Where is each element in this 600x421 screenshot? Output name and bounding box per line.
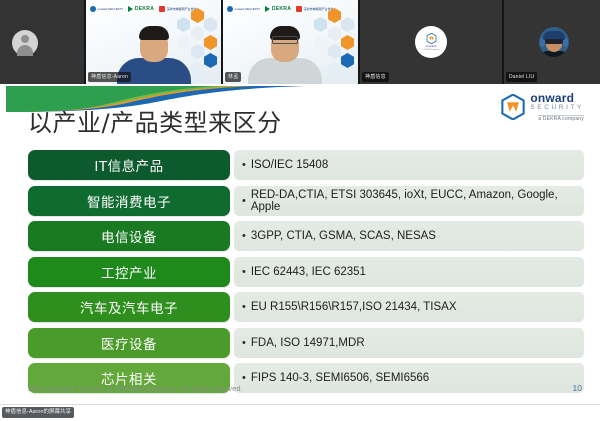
standards-text: FDA, ISO 14971,MDR — [251, 337, 365, 349]
bullet-icon: • — [242, 159, 246, 171]
participant-name-shendun: 神盾信息 — [362, 72, 389, 82]
standards-cell: • EU R155\R156\R157,ISO 21434, TISAX — [234, 292, 584, 322]
virtual-background-2: onward SECURITY DEKRA 深圳市物联网产业协会 — [223, 0, 358, 84]
video-tile-partial[interactable] — [0, 0, 86, 84]
page-number: 10 — [573, 383, 582, 393]
participant-name-daniel: Daniel LIU — [506, 72, 537, 82]
bullet-icon: • — [242, 230, 246, 242]
table-row: 汽车及汽车电子 • EU R155\R156\R157,ISO 21434, T… — [28, 292, 584, 322]
participant-figure-2 — [240, 10, 330, 84]
standards-cell: • ISO/IEC 15408 — [234, 150, 584, 180]
hex-w-icon-large — [500, 94, 526, 120]
participant-name-aaron: 神盾信息-Aaron — [88, 72, 131, 82]
video-tile-daniel-liu[interactable]: Daniel LIU — [504, 0, 600, 84]
category-cell: 医疗设备 — [28, 328, 230, 358]
onward-security-logo: onward SECURITY a DEKRA company — [500, 92, 584, 122]
standards-text: RED-DA,CTIA, ETSI 303645, ioXt, EUCC, Am… — [251, 189, 584, 213]
standards-text: ISO/IEC 15408 — [251, 159, 328, 171]
daniel-avatar-photo — [539, 27, 569, 57]
category-cell: IT信息产品 — [28, 150, 230, 180]
standards-cell: • IEC 62443, IEC 62351 — [234, 257, 584, 287]
brand-name: onward — [530, 92, 584, 104]
standards-text: 3GPP, CTIA, GSMA, SCAS, NESAS — [251, 230, 436, 242]
industry-standards-table: IT信息产品 • ISO/IEC 15408 智能消费电子 • RED-DA,C… — [28, 150, 584, 393]
standards-cell: • FDA, ISO 14971,MDR — [234, 328, 584, 358]
glasses-icon — [272, 36, 298, 44]
category-cell: 汽车及汽车电子 — [28, 292, 230, 322]
video-tile-strip: onward SECURITY DEKRA 深圳市物联网产业协会 — [0, 0, 600, 84]
standards-text: EU R155\R156\R157,ISO 21434, TISAX — [251, 301, 457, 313]
zoom-meeting-window: onward SECURITY DEKRA 深圳市物联网产业协会 — [0, 0, 600, 421]
table-row: IT信息产品 • ISO/IEC 15408 — [28, 150, 584, 180]
video-tile-participant-2[interactable]: onward SECURITY DEKRA 深圳市物联网产业协会 — [223, 0, 360, 84]
participant-name-2: 林孟 — [225, 72, 241, 82]
standards-text: IEC 62443, IEC 62351 — [251, 266, 366, 278]
category-cell: 电信设备 — [28, 221, 230, 251]
default-avatar-icon — [12, 30, 38, 56]
avatar-brand-sub: a DEKRA company — [422, 49, 439, 51]
hex-w-icon — [426, 33, 437, 44]
standards-cell: • RED-DA,CTIA, ETSI 303645, ioXt, EUCC, … — [234, 186, 584, 216]
page-title: 以产业/产品类型来区分 — [28, 103, 282, 138]
table-row: 工控产业 • IEC 62443, IEC 62351 — [28, 257, 584, 287]
slide-footer: 2023 Onward Security, a DEKRA Company. A… — [28, 383, 582, 393]
video-tile-shendun[interactable]: onward a DEKRA company 神盾信息 — [360, 0, 504, 84]
slide-canvas: 以产业/产品类型来区分 onward SECURITY a DEKRA comp… — [6, 86, 594, 403]
bullet-icon: • — [242, 337, 246, 349]
screen-share-status-bar: 神盾信息-Aaron的屏幕共享 — [0, 404, 600, 421]
brand-parent: a DEKRA company — [538, 115, 584, 122]
table-row: 电信设备 • 3GPP, CTIA, GSMA, SCAS, NESAS — [28, 221, 584, 251]
bullet-icon: • — [242, 266, 246, 278]
brand-tagline: SECURITY — [530, 105, 584, 112]
shared-screen-slide: 以产业/产品类型来区分 onward SECURITY a DEKRA comp… — [0, 84, 600, 405]
table-row: 智能消费电子 • RED-DA,CTIA, ETSI 303645, ioXt,… — [28, 186, 584, 216]
onward-avatar-icon: onward a DEKRA company — [415, 26, 447, 58]
category-cell: 工控产业 — [28, 257, 230, 287]
share-owner-label: 神盾信息-Aaron的屏幕共享 — [2, 407, 74, 418]
video-tile-aaron[interactable]: onward SECURITY DEKRA 深圳市物联网产业协会 — [86, 0, 223, 84]
bullet-icon: • — [242, 195, 246, 207]
bullet-icon: • — [242, 301, 246, 313]
copyright-text: 2023 Onward Security, a DEKRA Company. A… — [28, 384, 243, 393]
category-cell: 智能消费电子 — [28, 186, 230, 216]
table-row: 医疗设备 • FDA, ISO 14971,MDR — [28, 328, 584, 358]
standards-cell: • 3GPP, CTIA, GSMA, SCAS, NESAS — [234, 221, 584, 251]
avatar-brand-text: onward — [425, 45, 436, 48]
